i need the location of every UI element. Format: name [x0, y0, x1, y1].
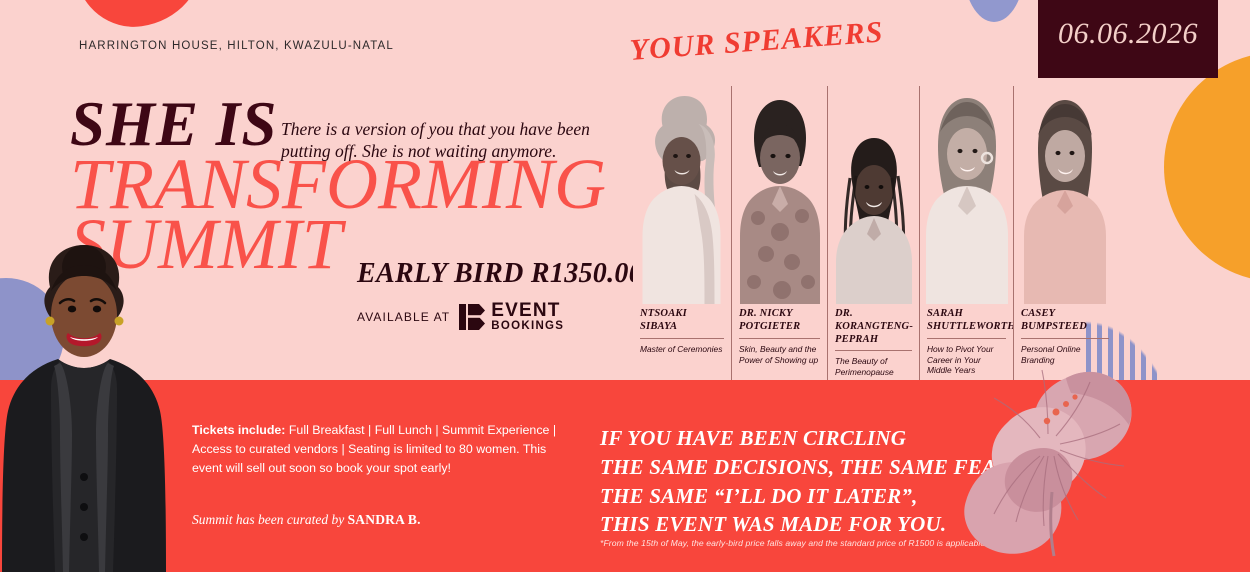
speaker-portrait [732, 86, 827, 304]
date-badge: 06.06.2026 [1038, 0, 1218, 78]
speakers-heading: YOUR SPEAKERS [629, 15, 885, 68]
speakers-grid: NTSOAKI SIBAYA Master of Ceremonies [633, 86, 1116, 380]
speaker-portrait [1014, 86, 1116, 304]
hibiscus-flower-graphic [948, 352, 1210, 572]
event-bookings-wordmark: EVENT BOOKINGS [491, 301, 564, 333]
event-date: 06.06.2026 [1058, 17, 1198, 51]
venue-text: HARRINGTON HOUSE, HILTON, KWAZULU-NATAL [79, 40, 394, 52]
curated-by-prefix: Summit has been curated by [192, 512, 348, 527]
speaker-name: DR. KORANGTENG-PEPRAH [835, 308, 912, 346]
curator-name: SANDRA B. [348, 512, 421, 527]
speaker-card[interactable]: DR. KORANGTENG-PEPRAH The Beauty of Peri… [828, 86, 920, 380]
speaker-meta: DR. KORANGTENG-PEPRAH The Beauty of Peri… [828, 304, 919, 380]
speaker-portrait [920, 86, 1013, 304]
speaker-meta: NTSOAKI SIBAYA Master of Ceremonies [633, 304, 731, 380]
availability-row: AVAILABLE AT EVENT BOOKINGS [357, 301, 564, 333]
speaker-topic: Skin, Beauty and the Power of Showing up [739, 344, 820, 366]
speaker-name: DR. NICKY POTGIETER [739, 308, 820, 334]
speaker-card[interactable]: NTSOAKI SIBAYA Master of Ceremonies [633, 86, 732, 380]
speaker-divider [1021, 338, 1109, 339]
tickets-include-text: Tickets include: Full Breakfast | Full L… [192, 421, 572, 479]
speaker-card[interactable]: SARAH SHUTTLEWORTH How to Pivot Your Car… [920, 86, 1014, 380]
speaker-portrait [828, 86, 919, 304]
speaker-card[interactable]: CASEY BUMPSTEED Personal Online Branding [1014, 86, 1116, 380]
event-poster: 06.06.2026 HARRINGTON HOUSE, HILTON, KWA… [0, 0, 1250, 572]
vendor-name-bottom: BOOKINGS [491, 321, 564, 333]
curated-by-text: Summit has been curated by SANDRA B. [192, 512, 421, 528]
speaker-topic: Master of Ceremonies [640, 344, 724, 355]
speaker-card[interactable]: DR. NICKY POTGIETER Skin, Beauty and the… [732, 86, 828, 380]
host-portrait [0, 245, 180, 572]
speaker-name: NTSOAKI SIBAYA [640, 308, 724, 334]
vendor-name-top: EVENT [491, 301, 564, 320]
available-at-label: AVAILABLE AT [357, 310, 450, 324]
speaker-divider [927, 338, 1006, 339]
speaker-divider [640, 338, 724, 339]
speaker-divider [835, 350, 912, 351]
tagline-text: There is a version of you that you have … [281, 118, 611, 163]
tickets-include-label: Tickets include: [192, 423, 285, 437]
speaker-divider [739, 338, 820, 339]
speaker-name: SARAH SHUTTLEWORTH [927, 308, 1006, 334]
periwinkle-semicircle-shape [963, 0, 1025, 22]
event-bookings-mark-icon [459, 304, 485, 330]
early-bird-price: EARLY BIRD R1350.00* [357, 258, 657, 290]
red-blob-shape [73, 0, 209, 34]
speaker-name: CASEY BUMPSTEED [1021, 308, 1109, 334]
speaker-topic: The Beauty of Perimenopause [835, 356, 912, 378]
event-bookings-logo[interactable]: EVENT BOOKINGS [459, 301, 564, 333]
speaker-meta: DR. NICKY POTGIETER Skin, Beauty and the… [732, 304, 827, 380]
speaker-portrait [633, 86, 731, 304]
